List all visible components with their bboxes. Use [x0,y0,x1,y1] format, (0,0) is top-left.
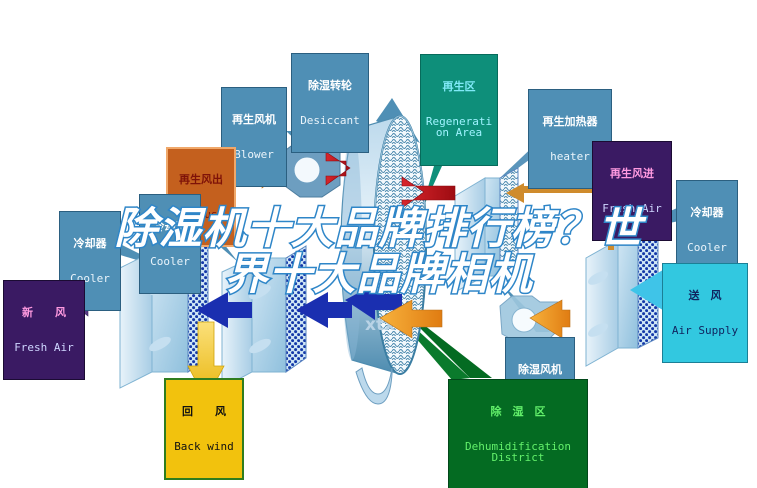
label-regen-area-cn: 再生区 [423,81,495,93]
diagram-canvas: xtx [0,0,757,488]
label-exhaust-cn: 再生风出 [170,174,232,186]
watermark-line-1: 除湿机十大品牌排行榜？世 [0,206,757,252]
label-desiccant-wheel-en: Desiccant [294,115,366,127]
label-fresh-air-regen-cn: 再生风进 [595,168,669,180]
label-desiccant-wheel-cn: 除湿转轮 [294,80,366,92]
label-regen-area-en: Regenerati on Area [423,116,495,139]
label-dehum-blower-cn: 除湿风机 [508,364,572,376]
label-regen-heater-cn: 再生加热器 [531,116,609,128]
watermark-line-2: 界十大品牌相机 [0,252,757,298]
watermark-headline: 除湿机十大品牌排行榜？世 界十大品牌相机 [0,206,757,298]
label-desiccant-wheel: 除湿转轮 Desiccant [291,53,369,153]
label-back-wind-cn: 回 风 [168,406,240,418]
label-regen-blower-cn: 再生风机 [224,114,284,126]
label-back-wind: 回 风 Back wind [164,378,244,480]
label-dehum-district-cn: 除 湿 区 [451,406,585,418]
label-regen-area: 再生区 Regenerati on Area [420,54,498,166]
label-fresh-air-in-en: Fresh Air [6,342,82,354]
label-air-supply-en: Air Supply [665,325,745,337]
label-fresh-air-in-cn: 新 风 [6,307,82,319]
label-dehumidification-district: 除 湿 区 Dehumidification District [448,379,588,488]
label-dehum-district-en: Dehumidification District [451,441,585,464]
label-back-wind-en: Back wind [168,441,240,453]
